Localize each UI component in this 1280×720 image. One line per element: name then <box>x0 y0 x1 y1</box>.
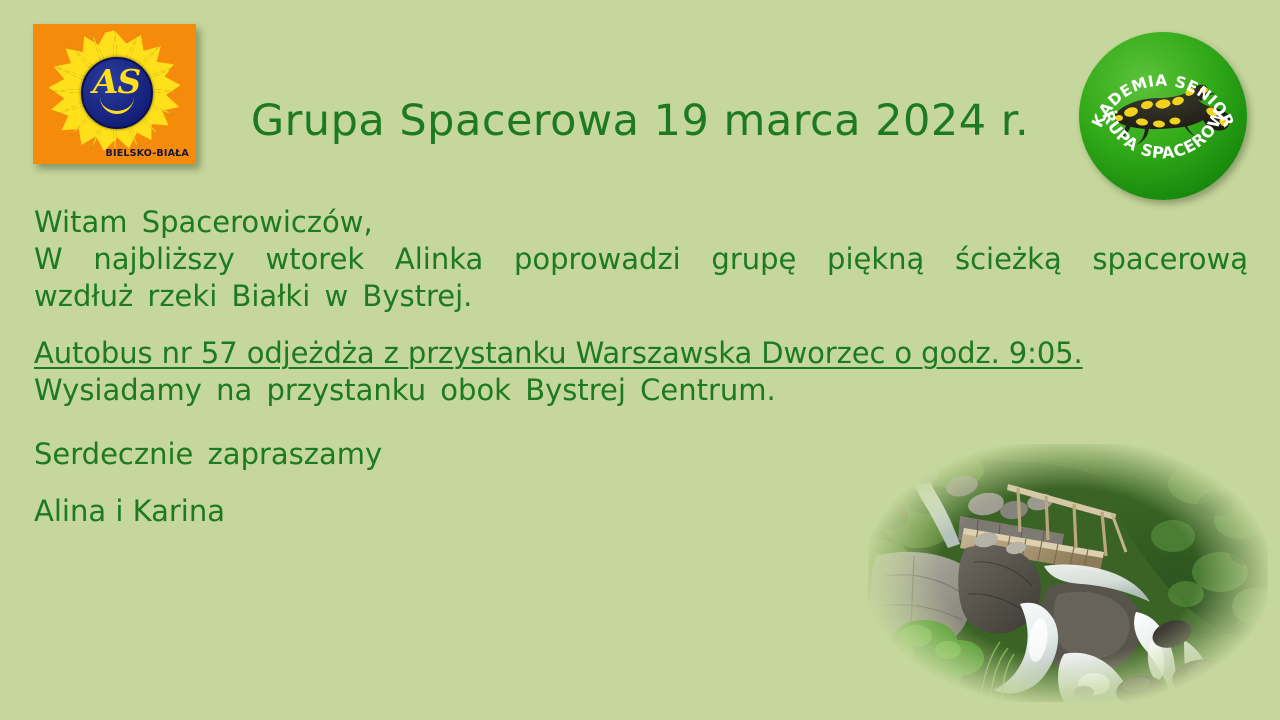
smile-icon <box>100 93 134 114</box>
page-title: Grupa Spacerowa 19 marca 2024 r. <box>210 96 1070 146</box>
bus-info-line: Autobus nr 57 odjeżdża z przystanku Wars… <box>34 335 1248 372</box>
as-monogram-circle: AS <box>81 57 153 129</box>
as-logo: AS BIELSKO-BIAŁA <box>33 24 196 164</box>
intro-line-1: W najbliższy wtorek Alinka poprowadzi gr… <box>34 241 1248 278</box>
slide-canvas: AS BIELSKO-BIAŁA <box>0 0 1280 720</box>
akademia-seniora-badge: AKADEMIA SENIORA GRUPA SPACEROWA <box>1079 32 1247 200</box>
mountain-stream-footbridge-photo <box>868 444 1268 702</box>
greeting-line: Witam Spacerowiczów, <box>34 204 1248 241</box>
photo-artwork <box>868 444 1268 702</box>
badge-graphics: AKADEMIA SENIORA GRUPA SPACEROWA <box>1079 32 1247 200</box>
as-logo-city-label: BIELSKO-BIAŁA <box>106 148 189 159</box>
photo-inner <box>868 444 1268 702</box>
intro-line-2: wzdłuż rzeki Białki w Bystrej. <box>34 278 1248 315</box>
exit-info-line: Wysiadamy na przystanku obok Bystrej Cen… <box>34 372 1248 409</box>
